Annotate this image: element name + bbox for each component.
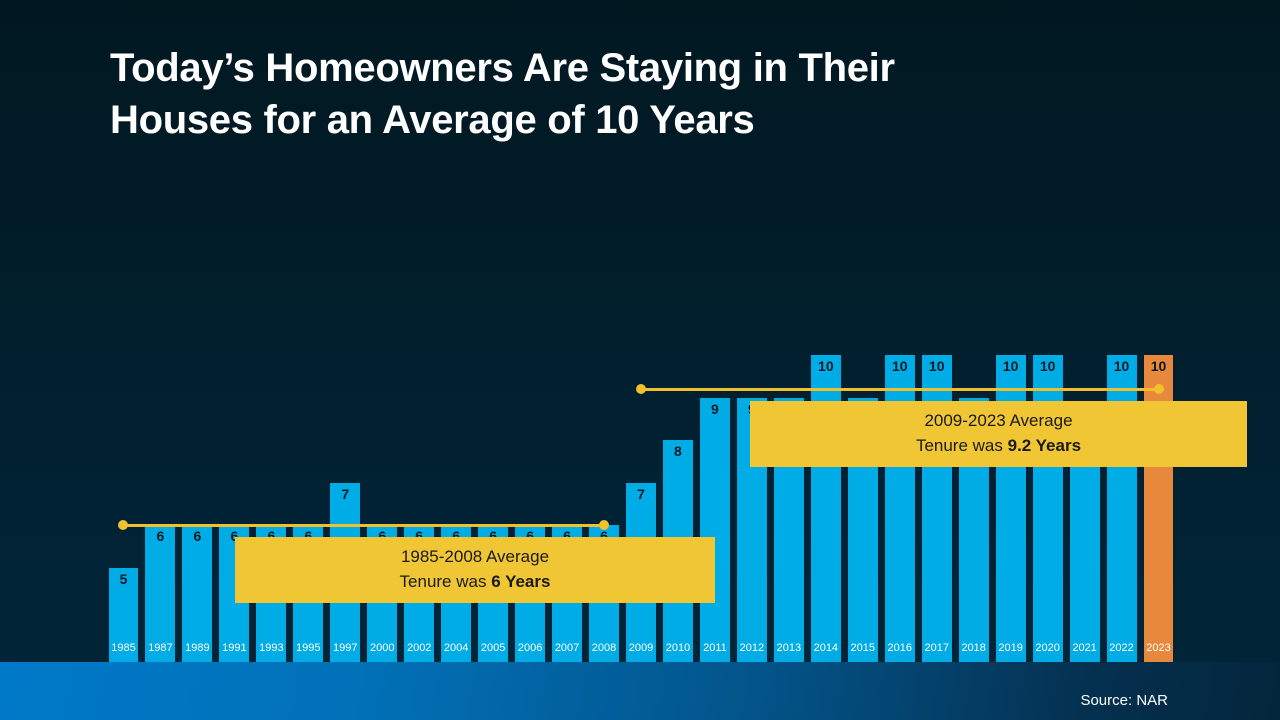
x-axis-tick: 1995: [293, 641, 323, 655]
annotation-line-2: Tenure was 6 Years: [235, 569, 715, 594]
annotation-prefix: Tenure was: [400, 572, 492, 591]
x-axis-tick: 2007: [552, 641, 582, 655]
slide: Today’s Homeowners Are Staying in Their …: [0, 0, 1280, 720]
annotation-line-2: Tenure was 9.2 Years: [750, 433, 1247, 458]
x-axis-tick: 2014: [811, 641, 841, 655]
x-axis-tick: 2011: [700, 641, 730, 655]
bar-column: 6: [182, 150, 212, 630]
x-axis-tick: 2017: [922, 641, 952, 655]
average-annotation-box: 2009-2023 AverageTenure was 9.2 Years: [750, 401, 1247, 467]
x-axis-tick: 2013: [774, 641, 804, 655]
x-axis-tick: 2000: [367, 641, 397, 655]
x-axis-tick: 2018: [959, 641, 989, 655]
x-axis-tick: 1987: [145, 641, 175, 655]
x-axis-tick: 2010: [663, 641, 693, 655]
bar-value-label: 7: [330, 486, 360, 502]
bar-value-label: 10: [1033, 358, 1063, 374]
bar-value-label: 7: [626, 486, 656, 502]
bar-value-label: 10: [1107, 358, 1137, 374]
x-axis-tick: 2020: [1033, 641, 1063, 655]
x-axis-tick: 2015: [848, 641, 878, 655]
bar-value-label: 8: [663, 443, 693, 459]
annotation-prefix: Tenure was: [916, 436, 1008, 455]
bar-column: 6: [145, 150, 175, 630]
x-axis-tick: 2019: [996, 641, 1026, 655]
annotation-line-1: 1985-2008 Average: [235, 544, 715, 569]
annotation-line-1: 2009-2023 Average: [750, 408, 1247, 433]
bar-value-label: 9: [700, 401, 730, 417]
x-axis-tick: 2022: [1107, 641, 1137, 655]
x-axis-tick: 2002: [404, 641, 434, 655]
bar-value-label: 6: [145, 528, 175, 544]
average-line-marker: [1154, 384, 1164, 394]
annotation-value: 9.2 Years: [1008, 436, 1081, 455]
bar-value-label: 10: [922, 358, 952, 374]
x-axis-tick: 2009: [626, 641, 656, 655]
x-axis-tick: 2006: [515, 641, 545, 655]
title-line-1: Today’s Homeowners Are Staying in Their: [110, 42, 1060, 94]
x-axis-tick: 1985: [109, 641, 139, 655]
average-line: [641, 388, 1159, 391]
x-axis-tick: 2004: [441, 641, 471, 655]
x-axis-tick: 1997: [330, 641, 360, 655]
bar-column: 5: [109, 150, 139, 630]
average-line: [123, 524, 604, 527]
bar-value-label: 5: [109, 571, 139, 587]
x-axis-tick: 1993: [256, 641, 286, 655]
annotation-value: 6 Years: [491, 572, 550, 591]
x-axis-tick: 1989: [182, 641, 212, 655]
average-line-marker: [599, 520, 609, 530]
average-line-marker: [636, 384, 646, 394]
average-annotation-box: 1985-2008 AverageTenure was 6 Years: [235, 537, 715, 603]
source-label: Source: NAR: [1080, 692, 1168, 709]
x-axis-tick-labels: 1985198719891991199319951997200020022004…: [105, 641, 1177, 659]
x-axis-tick: 2021: [1070, 641, 1100, 655]
bar-value-label: 10: [811, 358, 841, 374]
x-axis-tick: 2016: [885, 641, 915, 655]
x-axis-tick: 2012: [737, 641, 767, 655]
bar-value-label: 6: [182, 528, 212, 544]
x-axis-tick: 1991: [219, 641, 249, 655]
x-axis-tick: 2008: [589, 641, 619, 655]
title-line-2: Houses for an Average of 10 Years: [110, 94, 1060, 146]
bar-value-label: 10: [996, 358, 1026, 374]
footer-band: Source: NAR: [0, 662, 1280, 720]
bar-value-label: 10: [885, 358, 915, 374]
page-title: Today’s Homeowners Are Staying in Their …: [110, 42, 1060, 146]
x-axis-tick: 2005: [478, 641, 508, 655]
bar-chart: 566666766666667899910910109101081010 198…: [105, 150, 1177, 640]
bar-value-label: 10: [1144, 358, 1174, 374]
x-axis-tick: 2023: [1144, 641, 1174, 655]
